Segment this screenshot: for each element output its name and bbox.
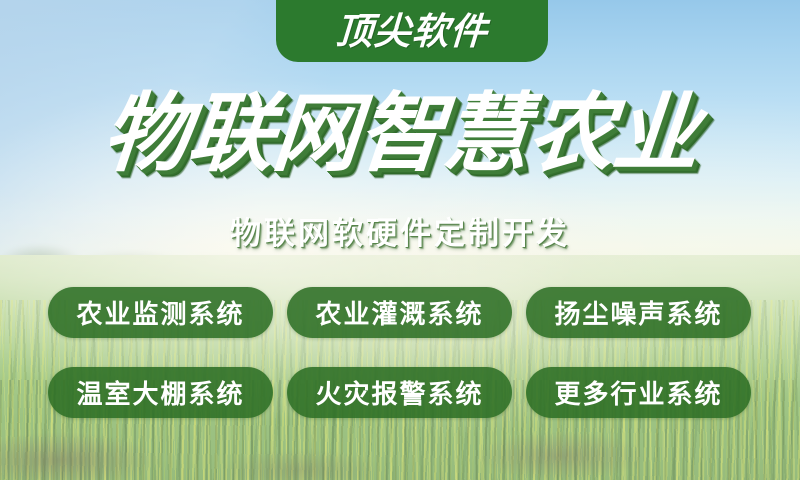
system-button-fire-alarm[interactable]: 火灾报警系统 — [287, 367, 512, 418]
system-button-greenhouse[interactable]: 温室大棚系统 — [48, 367, 273, 418]
system-button-label: 温室大棚系统 — [76, 374, 244, 411]
system-button-label: 火灾报警系统 — [315, 374, 483, 411]
soil-patches — [0, 410, 800, 480]
system-button-row-2: 温室大棚系统 火灾报警系统 更多行业系统 — [48, 367, 752, 418]
brand-badge: 顶尖软件 — [276, 0, 548, 62]
brand-badge-label: 顶尖软件 — [335, 1, 490, 55]
system-button-row-1: 农业监测系统 农业灌溉系统 扬尘噪声系统 — [48, 287, 752, 338]
system-button-label: 扬尘噪声系统 — [554, 294, 722, 331]
system-button-more-industries[interactable]: 更多行业系统 — [526, 367, 751, 418]
system-button-label: 更多行业系统 — [554, 374, 722, 411]
system-button-label: 农业灌溉系统 — [315, 294, 483, 331]
headline: 物联网智慧农业 — [0, 88, 800, 180]
system-button-agriculture-monitoring[interactable]: 农业监测系统 — [48, 287, 273, 338]
system-button-grid: 农业监测系统 农业灌溉系统 扬尘噪声系统 温室大棚系统 火灾报警系统 更多行业系… — [48, 287, 752, 418]
headline-text: 物联网智慧农业 — [98, 88, 701, 180]
system-button-dust-noise[interactable]: 扬尘噪声系统 — [526, 287, 751, 338]
subheadline-text: 物联网软硬件定制开发 — [230, 216, 570, 252]
system-button-label: 农业监测系统 — [76, 294, 244, 331]
subheadline: 物联网软硬件定制开发 — [0, 208, 800, 253]
promo-banner: 顶尖软件 物联网智慧农业 物联网软硬件定制开发 农业监测系统 农业灌溉系统 扬尘… — [0, 0, 800, 480]
system-button-agriculture-irrigation[interactable]: 农业灌溉系统 — [287, 287, 512, 338]
